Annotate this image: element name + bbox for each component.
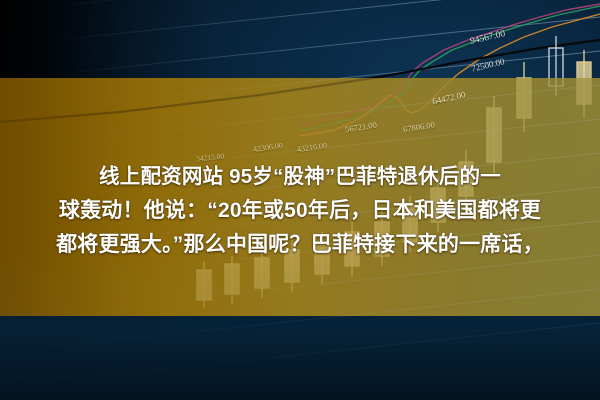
article-banner: 94567.0072500.0064472.0067806.0056721.00…	[0, 0, 600, 400]
gold-overlay-band	[0, 78, 600, 316]
gold-band-chart-echo	[0, 78, 600, 316]
